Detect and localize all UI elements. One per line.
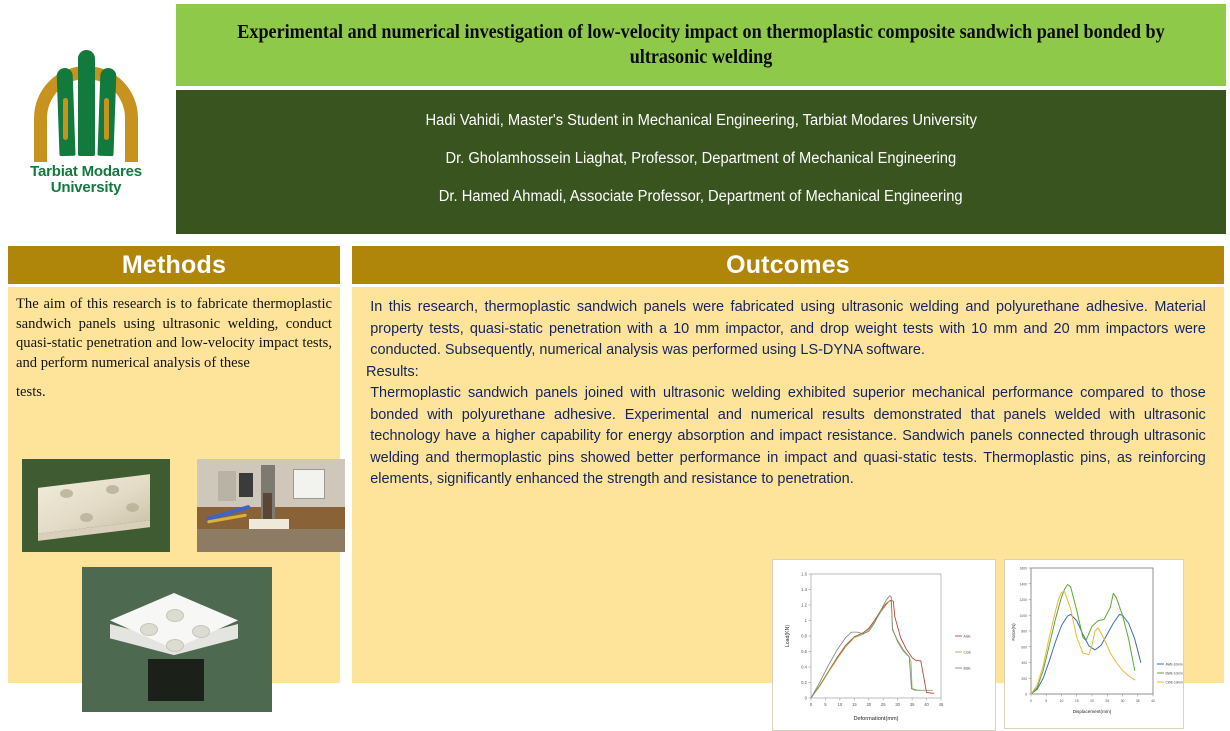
svg-text:5: 5 <box>1045 699 1047 703</box>
panel-stand-shadow <box>148 659 204 701</box>
methods-photo-group <box>22 459 332 552</box>
load-deformation-chart: 00.20.40.60.811.21.41.6 0510152025303540… <box>772 559 996 731</box>
author-line-1: Hadi Vahidi, Master's Student in Mechani… <box>425 111 976 131</box>
svg-text:1600: 1600 <box>1019 567 1027 571</box>
svg-text:10: 10 <box>838 702 843 707</box>
methods-body: The aim of this research is to fabricate… <box>8 284 340 683</box>
svg-text:CGE: CGE <box>964 651 972 655</box>
logo-leaf-center-icon <box>78 50 95 156</box>
svg-text:40: 40 <box>924 702 929 707</box>
svg-text:0.6: 0.6 <box>801 649 807 654</box>
drop-tower-test-setup-photo <box>197 459 345 552</box>
svg-text:600: 600 <box>1021 645 1027 649</box>
svg-text:0.8: 0.8 <box>801 634 807 639</box>
svg-text:0.4: 0.4 <box>801 665 807 670</box>
page-title: Experimental and numerical investigation… <box>228 20 1175 70</box>
svg-text:25: 25 <box>1105 699 1109 703</box>
weld-dot <box>106 485 119 494</box>
weld-dot <box>192 625 210 638</box>
authors-bar: Hadi Vahidi, Master's Student in Mechani… <box>176 90 1226 234</box>
university-logo: Tarbiat Modares University <box>0 0 172 238</box>
svg-text:1.6: 1.6 <box>801 572 807 577</box>
logo-leaf-inner-right <box>104 98 109 140</box>
svg-text:400: 400 <box>1021 661 1027 665</box>
methods-paragraph: The aim of this research is to fabricate… <box>16 295 332 373</box>
outcomes-body: In this research, thermoplastic sandwich… <box>352 284 1224 683</box>
svg-text:AWE-10mm: AWE-10mm <box>1166 663 1183 667</box>
load-deformation-chart-svg: 00.20.40.60.811.21.41.6 0510152025303540… <box>773 560 995 730</box>
welded-foam-panel-photo <box>82 567 272 712</box>
svg-text:45: 45 <box>939 702 944 707</box>
logo-mark-icon <box>16 42 156 162</box>
svg-text:35: 35 <box>910 702 915 707</box>
author-line-3: Dr. Hamed Ahmadi, Associate Professor, D… <box>439 187 963 207</box>
force-displacement-chart-svg: 02004006008001000120014001600 0510152025… <box>1005 560 1183 728</box>
lab-floor <box>197 529 345 552</box>
weld-dot <box>166 639 184 652</box>
svg-text:20: 20 <box>1090 699 1094 703</box>
svg-text:1.4: 1.4 <box>801 587 807 592</box>
chart1-ylabel: Load(KN) <box>785 625 791 647</box>
svg-text:0: 0 <box>1030 699 1032 703</box>
weld-dot <box>140 623 158 636</box>
svg-text:30: 30 <box>895 702 900 707</box>
logo-text-line2: University <box>30 180 142 196</box>
svg-text:20: 20 <box>866 702 871 707</box>
svg-text:1400: 1400 <box>1019 582 1027 586</box>
test-specimen <box>249 519 289 529</box>
svg-text:15: 15 <box>852 702 857 707</box>
svg-text:15: 15 <box>1075 699 1079 703</box>
methods-heading: Methods <box>122 252 226 278</box>
logo-leaf-inner-left <box>63 98 68 140</box>
svg-text:1.2: 1.2 <box>801 603 807 608</box>
svg-text:40: 40 <box>1151 699 1155 703</box>
outcomes-results-paragraph: Thermoplastic sandwich panels joined wit… <box>370 383 1206 491</box>
svg-text:30: 30 <box>1121 699 1125 703</box>
logo-text-line1: Tarbiat Modares <box>30 164 142 180</box>
svg-text:AGE: AGE <box>964 635 972 639</box>
svg-text:BWE-10mm: BWE-10mm <box>1166 672 1184 676</box>
svg-text:CWE-10mm: CWE-10mm <box>1166 681 1184 685</box>
svg-text:0.2: 0.2 <box>801 680 807 685</box>
charts-group: 00.20.40.60.811.21.41.6 0510152025303540… <box>772 559 1212 685</box>
svg-text:0: 0 <box>1025 693 1027 697</box>
results-label: Results: <box>366 362 1210 384</box>
outcomes-heading: Outcomes <box>726 252 850 278</box>
svg-text:10: 10 <box>1060 699 1064 703</box>
author-line-2: Dr. Gholamhossein Liaghat, Professor, De… <box>446 149 957 169</box>
poster-header: Tarbiat Modares University Experimental … <box>0 0 1230 238</box>
chart2-ylabel: Force(N) <box>1011 623 1016 641</box>
svg-text:1200: 1200 <box>1019 598 1027 602</box>
lab-monitor-right <box>293 469 325 499</box>
weld-dot <box>60 489 73 498</box>
svg-text:25: 25 <box>881 702 886 707</box>
svg-text:35: 35 <box>1136 699 1140 703</box>
lab-monitor-left <box>218 471 236 501</box>
logo-text: Tarbiat Modares University <box>30 164 142 196</box>
weld-dot <box>126 503 139 512</box>
methods-header: Methods <box>8 246 340 284</box>
weld-dot <box>166 609 184 622</box>
svg-text:800: 800 <box>1021 630 1027 634</box>
outcomes-intro-paragraph: In this research, thermoplastic sandwich… <box>370 297 1206 362</box>
force-displacement-chart: 02004006008001000120014001600 0510152025… <box>1004 559 1184 729</box>
chart2-xlabel: Displacement(mm) <box>1073 709 1112 714</box>
methods-paragraph-tail: tests. <box>16 383 332 403</box>
outcomes-section: Outcomes In this research, thermoplastic… <box>352 246 1224 683</box>
svg-text:1000: 1000 <box>1019 614 1027 618</box>
svg-text:200: 200 <box>1021 677 1027 681</box>
chart1-xlabel: Deformationt(mm) <box>853 716 898 722</box>
sandwich-panel-photo <box>22 459 170 552</box>
poster-title-bar: Experimental and numerical investigation… <box>176 4 1226 86</box>
svg-text:BGE: BGE <box>964 667 972 671</box>
weld-dot <box>80 513 93 522</box>
lab-equipment-box <box>239 473 253 497</box>
methods-section: Methods The aim of this research is to f… <box>8 246 340 683</box>
outcomes-header: Outcomes <box>352 246 1224 284</box>
